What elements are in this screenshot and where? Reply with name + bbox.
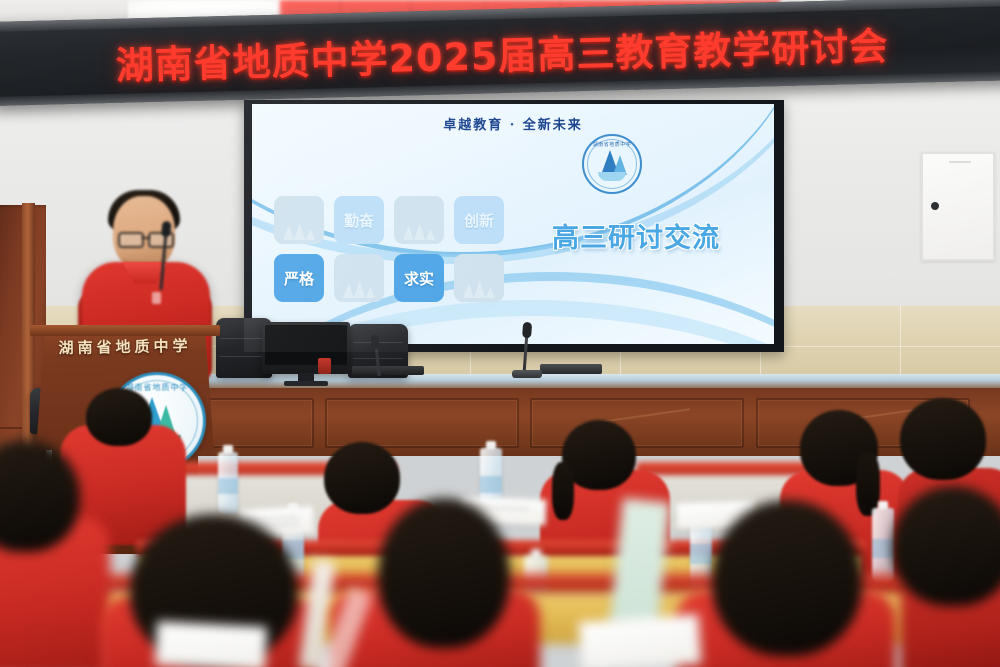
slide-tile-7: [454, 254, 504, 302]
slide-tile-5: [334, 254, 384, 302]
panel-knob-icon: [931, 202, 939, 210]
podium-engraved-text: 湖南省地质中学: [36, 334, 214, 358]
glasses-bridge: [142, 237, 150, 239]
microphone-base: [512, 370, 542, 378]
desktop-monitor[interactable]: [262, 322, 350, 374]
slide-tile-2: [394, 196, 444, 244]
projection-screen: 卓越教育 · 全新未来 湖南省地质中学 高三研讨交流 勤奋 创新 严格 求实: [252, 104, 774, 344]
slide-tile-grid: 勤奋 创新 严格 求实: [274, 196, 504, 304]
slide-tile-0: [274, 196, 324, 244]
speaker-shirt-logo-icon: [152, 292, 161, 304]
electrical-access-panel[interactable]: [921, 152, 995, 261]
slide-main-title: 高三研讨交流: [552, 216, 720, 255]
water-bottle-5[interactable]: [872, 508, 894, 582]
keyboard[interactable]: [352, 366, 424, 375]
school-logo-rim-text: 湖南省地质中学: [584, 141, 640, 148]
led-banner-text: 湖南省地质中学2025届高三教育教学研讨会: [0, 12, 1000, 93]
desktop-tower-indicator: [318, 358, 331, 374]
school-logo-icon: 湖南省地质中学: [582, 134, 642, 194]
speaker-glasses-left: [118, 232, 144, 248]
slide-tile-6: 求实: [394, 254, 444, 302]
water-bottle-1[interactable]: [218, 452, 238, 514]
handout-paper-front-1[interactable]: [578, 614, 701, 667]
handout-paper-front-2[interactable]: [155, 621, 267, 667]
monitor-screen: [265, 325, 347, 365]
slide-motto: 卓越教育 · 全新未来: [252, 114, 774, 133]
slide-tile-3: 创新: [454, 196, 504, 244]
laptop-device[interactable]: [540, 364, 602, 374]
slide-tile-4: 严格: [274, 254, 324, 302]
conference-room-photo: 湖南省地质中学2025届高三教育教学研讨会 卓越教育 · 全新未来 湖南省地质中…: [0, 0, 1000, 667]
slide-tile-1: 勤奋: [334, 196, 384, 244]
